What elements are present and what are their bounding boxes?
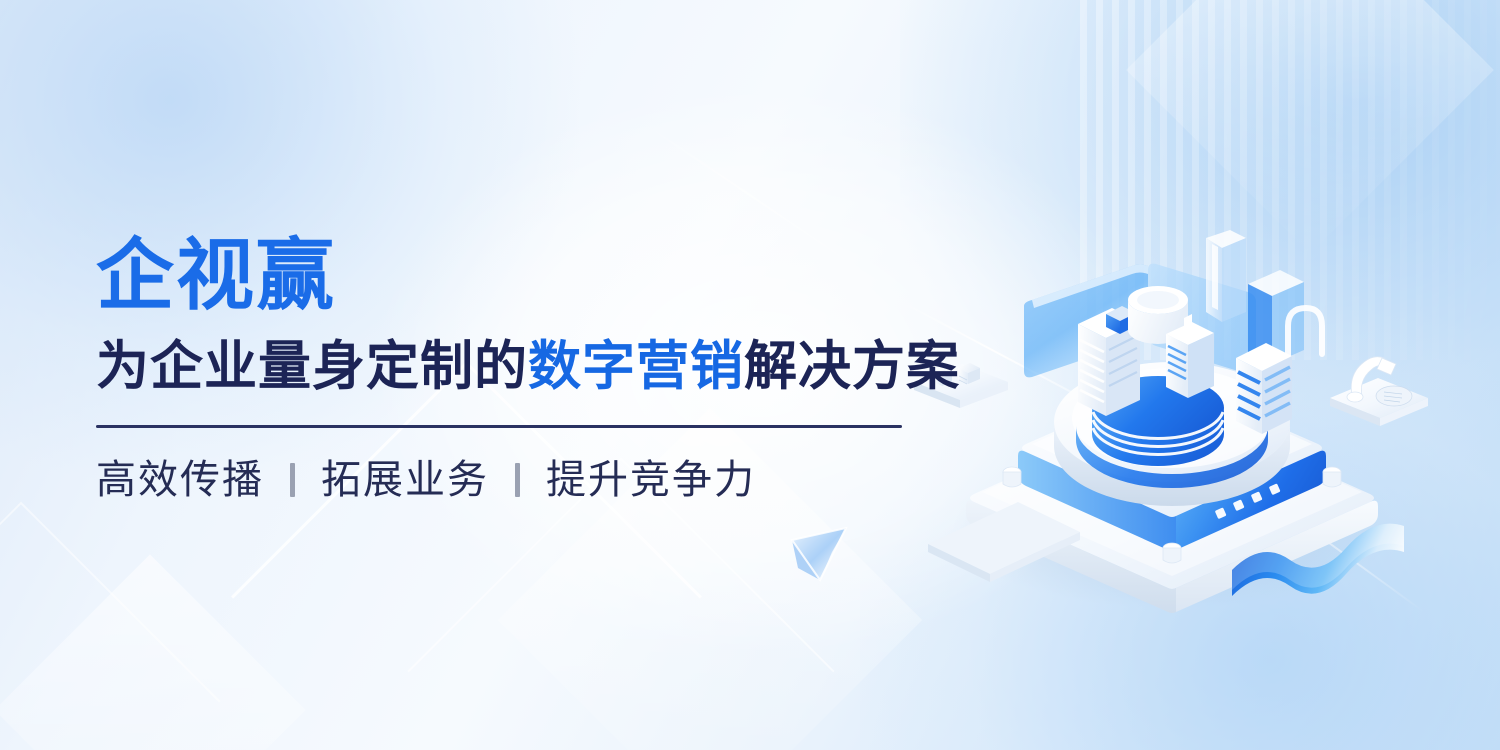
tagline-item-2: 提升竞争力	[546, 458, 756, 502]
tagline-row: 高效传播 拓展业务 提升竞争力	[96, 458, 916, 502]
glass-prism	[792, 528, 846, 580]
chevron-shape-c	[0, 502, 220, 750]
tagline-separator-0	[290, 463, 295, 497]
glass-tube	[1206, 230, 1246, 322]
tagline-separator-1	[515, 463, 520, 497]
right-tile	[1330, 357, 1428, 426]
headline: 为企业量身定制的数字营销解决方案	[96, 338, 916, 395]
wedge-shape-c	[0, 554, 306, 750]
banner-content: 企视赢 为企业量身定制的数字营销解决方案 高效传播 拓展业务 提升竞争力	[96, 236, 916, 502]
headline-accent: 数字营销	[528, 337, 744, 396]
divider-rule	[96, 425, 902, 428]
headline-tail: 解决方案	[744, 337, 960, 396]
tagline-item-1: 拓展业务	[321, 458, 489, 502]
hero-illustration	[900, 230, 1460, 660]
wedge-shape-b	[1126, 0, 1494, 254]
headline-lead: 为企业量身定制的	[96, 337, 528, 396]
tower-right	[1236, 343, 1292, 434]
marketing-banner: 企视赢 为企业量身定制的数字营销解决方案 高效传播 拓展业务 提升竞争力	[0, 0, 1500, 750]
tagline-item-0: 高效传播	[96, 458, 264, 502]
brand-title: 企视赢	[96, 236, 916, 314]
antenna-dish	[1376, 386, 1412, 406]
